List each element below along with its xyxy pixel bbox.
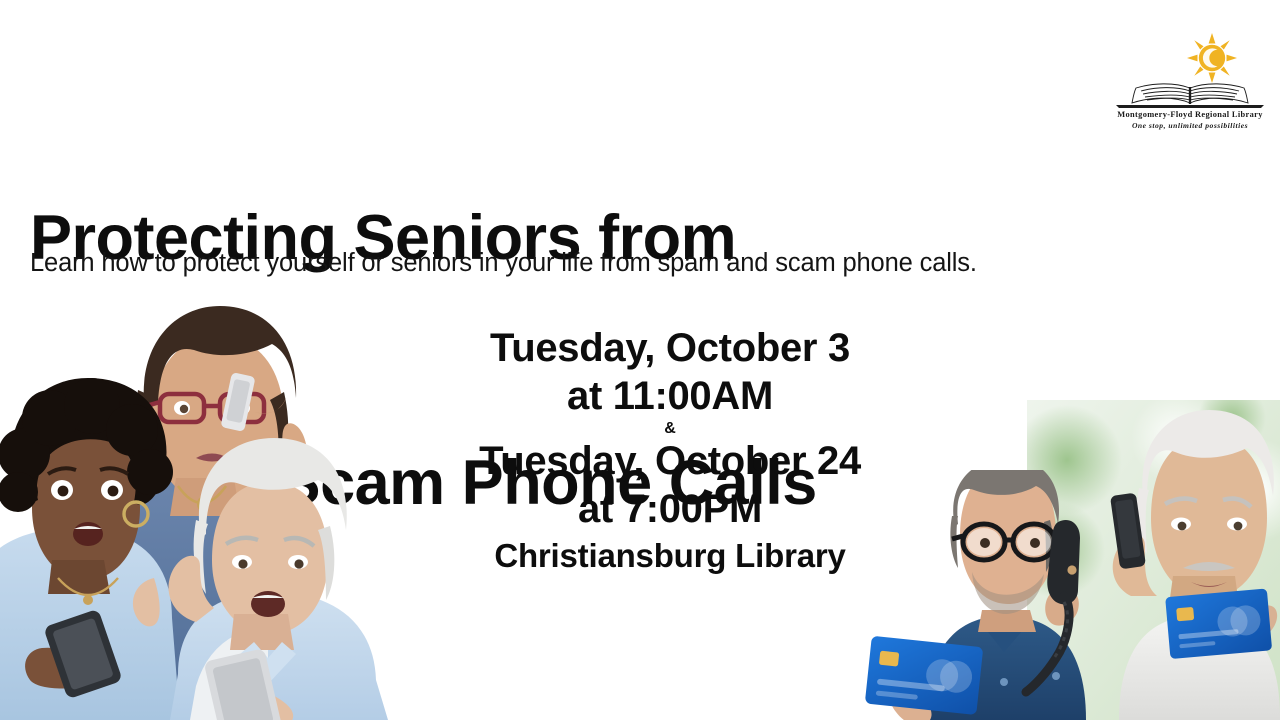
open-book-icon xyxy=(1112,82,1268,112)
photo-left-three-women xyxy=(0,282,440,720)
event-separator: & xyxy=(380,420,960,438)
logo-tagline: One stop, unlimited possibilities xyxy=(1110,121,1270,130)
event-time-2: at 7:00PM xyxy=(380,486,960,534)
sun-with-crescent-moon-icon xyxy=(1186,32,1238,84)
event-time-1: at 11:00AM xyxy=(380,373,960,421)
photo-left-illustration xyxy=(0,282,440,720)
event-date-1: Tuesday, October 3 xyxy=(380,325,960,373)
library-logo: Montgomery-Floyd Regional Library One st… xyxy=(1110,32,1270,137)
event-details: Tuesday, October 3 at 11:00AM & Tuesday,… xyxy=(380,325,960,578)
event-venue: Christiansburg Library xyxy=(380,535,960,578)
event-flyer: Protecting Seniors from Spam & Scam Phon… xyxy=(0,0,1280,720)
logo-library-name: Montgomery-Floyd Regional Library xyxy=(1110,110,1270,119)
event-date-2: Tuesday, October 24 xyxy=(380,438,960,486)
subtitle: Learn how to protect yourself or seniors… xyxy=(30,248,1270,280)
